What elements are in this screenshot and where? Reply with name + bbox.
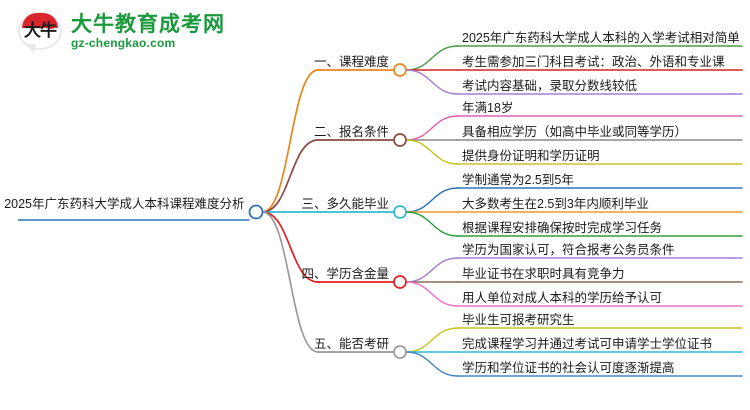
branch-label-1[interactable]: 一、课程难度 xyxy=(0,55,392,69)
leaf-label-5-2[interactable]: 完成课程学习并通过考试可申请学士学位证书 xyxy=(462,337,712,351)
leaf-label-3-2[interactable]: 大多数考生在2.5到3年内顺利毕业 xyxy=(462,197,649,211)
leaf-label-4-1[interactable]: 学历为国家认可，符合报考公务员条件 xyxy=(462,243,675,257)
branch-label-2[interactable]: 二、报名条件 xyxy=(0,125,392,139)
leaf-label-2-1[interactable]: 年满18岁 xyxy=(462,101,513,115)
branch-label-5[interactable]: 五、能否考研 xyxy=(0,337,392,351)
leaf-label-5-3[interactable]: 学历和学位证书的社会认可度逐渐提高 xyxy=(462,361,675,375)
leaf-label-2-2[interactable]: 具备相应学历（如高中毕业或同等学历） xyxy=(462,125,687,139)
leaf-label-3-3[interactable]: 根据课程安排确保按时完成学习任务 xyxy=(462,221,662,235)
root-label[interactable]: 2025年广东药科大学成人本科课程难度分析 xyxy=(0,197,248,211)
leaf-label-1-3[interactable]: 考试内容基础，录取分数线较低 xyxy=(462,79,637,93)
leaf-label-3-1[interactable]: 学制通常为2.5到5年 xyxy=(462,173,574,187)
branch-label-4[interactable]: 四、学历含金量 xyxy=(0,267,392,281)
leaf-label-1-2[interactable]: 考生需参加三门科目考试：政治、外语和专业课 xyxy=(462,55,725,69)
leaf-label-5-1[interactable]: 毕业生可报考研究生 xyxy=(462,313,575,327)
leaf-label-4-2[interactable]: 毕业证书在求职时具有竞争力 xyxy=(462,267,625,281)
leaf-label-1-1[interactable]: 2025年广东药科大学成人本科的入学考试相对简单 xyxy=(462,31,740,45)
leaf-label-2-3[interactable]: 提供身份证明和学历证明 xyxy=(462,149,600,163)
leaf-label-4-3[interactable]: 用人单位对成人本科的学历给予认可 xyxy=(462,291,662,305)
